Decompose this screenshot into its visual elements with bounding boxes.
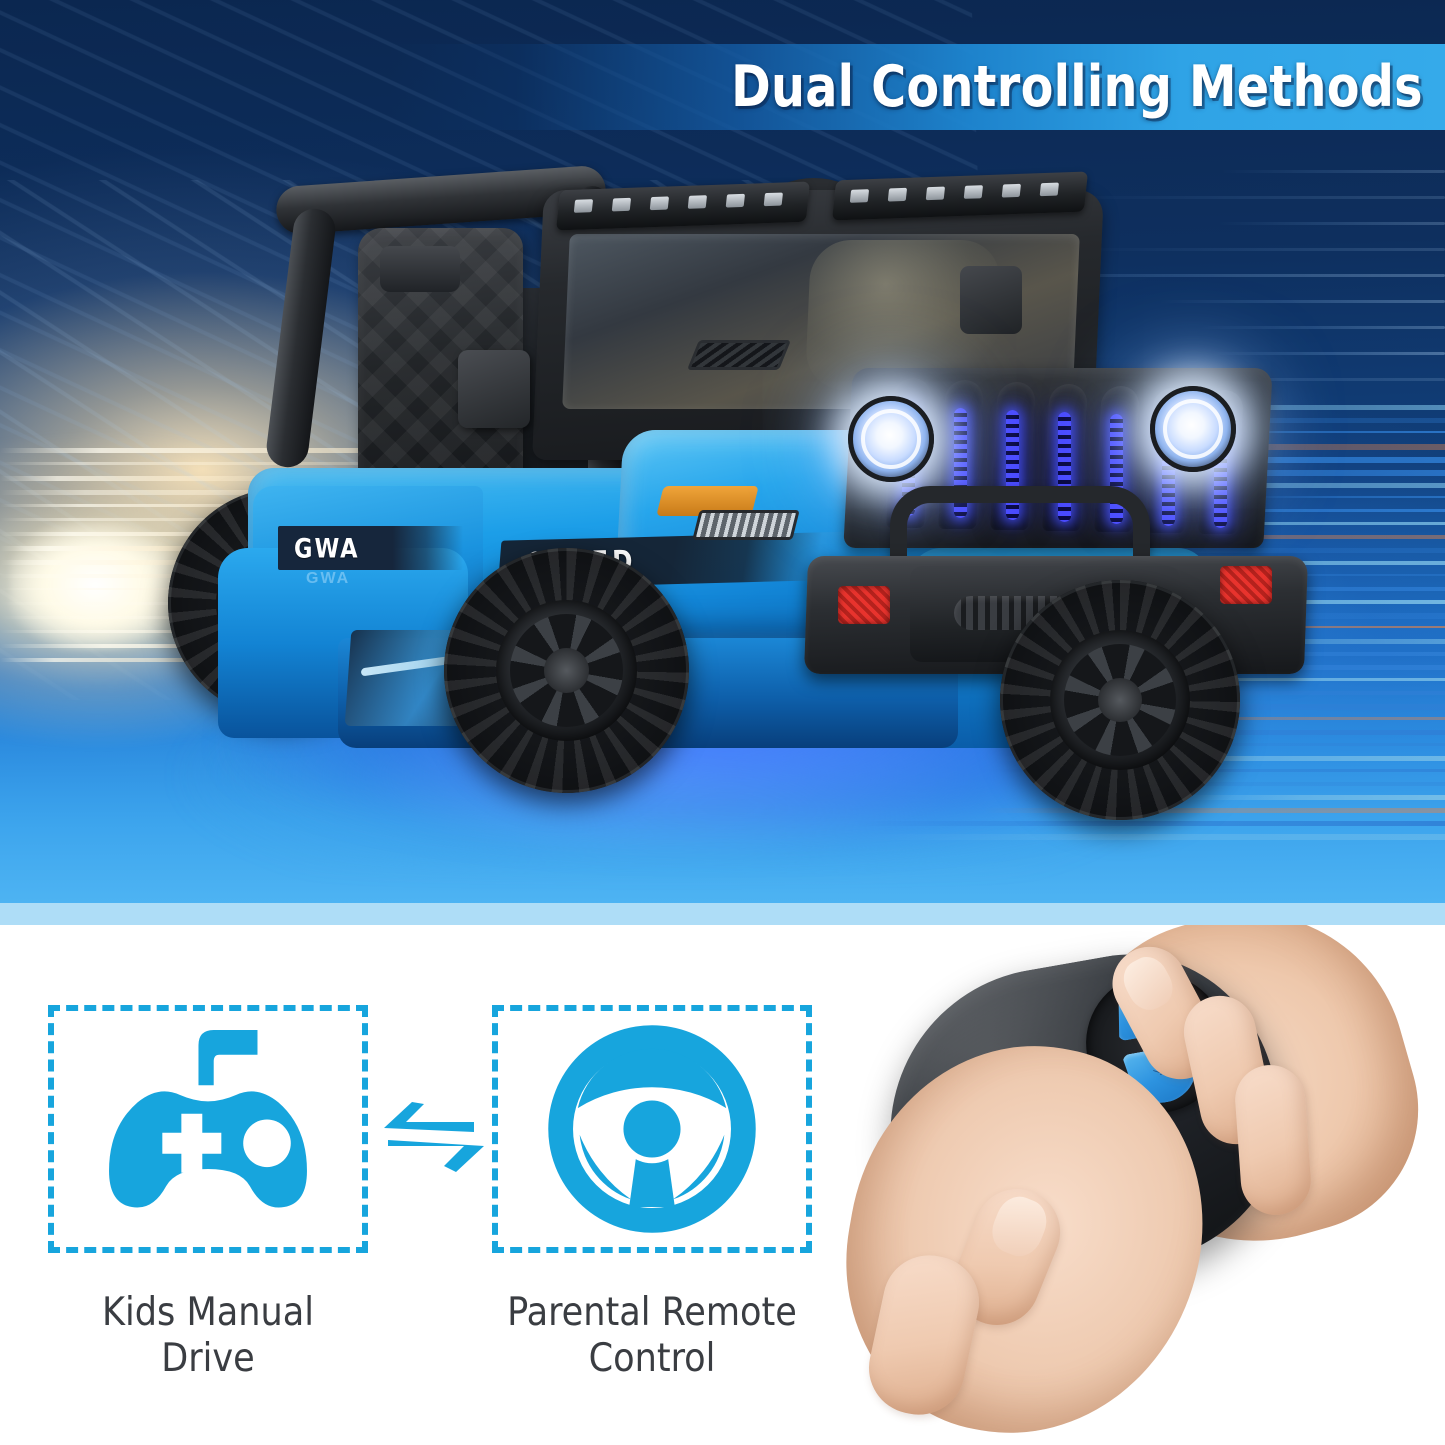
- caption-manual-drive-line2: Drive: [38, 1336, 378, 1382]
- led-bulb: [726, 194, 745, 208]
- caption-remote-control-line2: Control: [482, 1336, 822, 1382]
- led-bulb: [1040, 183, 1059, 197]
- method-box-manual-drive: [48, 1005, 368, 1253]
- decal-gwa-text: GWA: [294, 533, 360, 563]
- page-title: Dual Controlling Methods: [731, 54, 1423, 120]
- led-bulb: [964, 185, 983, 199]
- led-bulb: [926, 187, 945, 201]
- headlight-ring: [861, 409, 921, 469]
- title-banner: Dual Controlling Methods: [390, 44, 1445, 130]
- led-bulb: [1002, 184, 1021, 198]
- led-bulb: [888, 188, 907, 202]
- side-vent: [692, 510, 799, 540]
- wheel-rim: [1050, 630, 1190, 770]
- side-mirror-left: [458, 350, 530, 428]
- reflector-right: [1220, 566, 1272, 604]
- section-divider: [0, 903, 1445, 925]
- method-box-remote-control: [492, 1005, 812, 1253]
- led-bulb: [612, 198, 631, 212]
- steering-wheel-icon: [498, 1011, 806, 1247]
- side-mirror-right: [960, 266, 1022, 334]
- gamepad-icon: [54, 1011, 362, 1247]
- remote-control-photo: P ↓ ↑ ← S → ♪: [840, 925, 1445, 1445]
- headlight-ring: [1163, 399, 1223, 459]
- caption-remote-control: Parental Remote Control: [482, 1290, 822, 1382]
- reflector-left: [838, 586, 890, 624]
- fingernail: [1117, 950, 1180, 1017]
- wheel-front-left: [1000, 580, 1240, 820]
- decal-gwa: GWA: [278, 526, 463, 570]
- wheel-rear-right: [444, 548, 689, 793]
- decal-gwa-ghost: GWA: [306, 570, 350, 588]
- led-bulb: [650, 196, 669, 210]
- led-bulb: [850, 189, 869, 203]
- methods-section: Kids Manual Drive Parental Remote Contro…: [0, 925, 1445, 1445]
- caption-remote-control-line1: Parental Remote: [482, 1290, 822, 1336]
- headlight-left: [848, 396, 934, 482]
- fingernail: [985, 1190, 1053, 1263]
- headlight-right: [1150, 386, 1236, 472]
- led-bulb: [574, 199, 593, 213]
- roll-bar-leg-left: [264, 206, 337, 469]
- led-bulb: [764, 193, 783, 207]
- led-bulb: [688, 195, 707, 209]
- product-feature-image: GWA GWA SPEED SPEED: [0, 0, 1445, 1445]
- exchange-arrows-svg: [378, 1100, 488, 1180]
- seat-headrest: [380, 246, 460, 292]
- wheel-hub: [544, 648, 589, 693]
- caption-manual-drive-line1: Kids Manual: [38, 1290, 378, 1336]
- caption-manual-drive: Kids Manual Drive: [38, 1290, 378, 1382]
- exchange-arrows-icon: [378, 1100, 488, 1180]
- hero-section: GWA GWA SPEED SPEED: [0, 0, 1445, 903]
- hood-vent: [687, 340, 791, 370]
- finger-ring-right: [1233, 1063, 1313, 1218]
- ride-on-jeep-vehicle: GWA GWA SPEED SPEED: [148, 168, 1278, 858]
- wheel-rim: [496, 600, 637, 741]
